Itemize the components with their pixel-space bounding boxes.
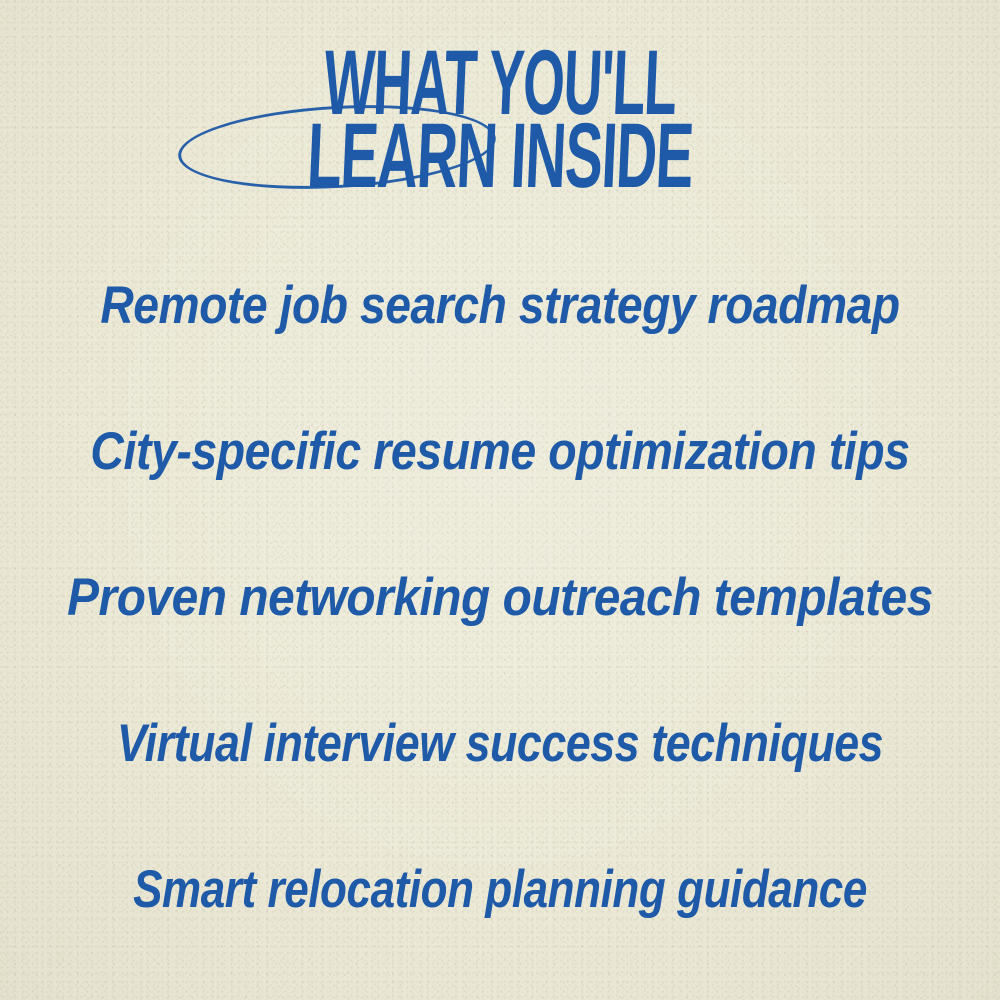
- list-item: Remote job search strategy roadmap: [64, 232, 936, 378]
- list-item: Smart relocation planning guidance: [85, 816, 915, 962]
- list-item: City-specific resume optimization tips: [62, 378, 938, 524]
- learn-list: Remote job search strategy roadmap City-…: [0, 232, 1000, 962]
- list-item: Virtual interview success techniques: [78, 670, 922, 816]
- poster-canvas: WHAT YOU'LL LEARN INSIDE Remote job sear…: [0, 0, 1000, 1000]
- list-item: Proven networking outreach templates: [49, 524, 951, 670]
- headline: WHAT YOU'LL LEARN INSIDE: [0, 44, 1000, 184]
